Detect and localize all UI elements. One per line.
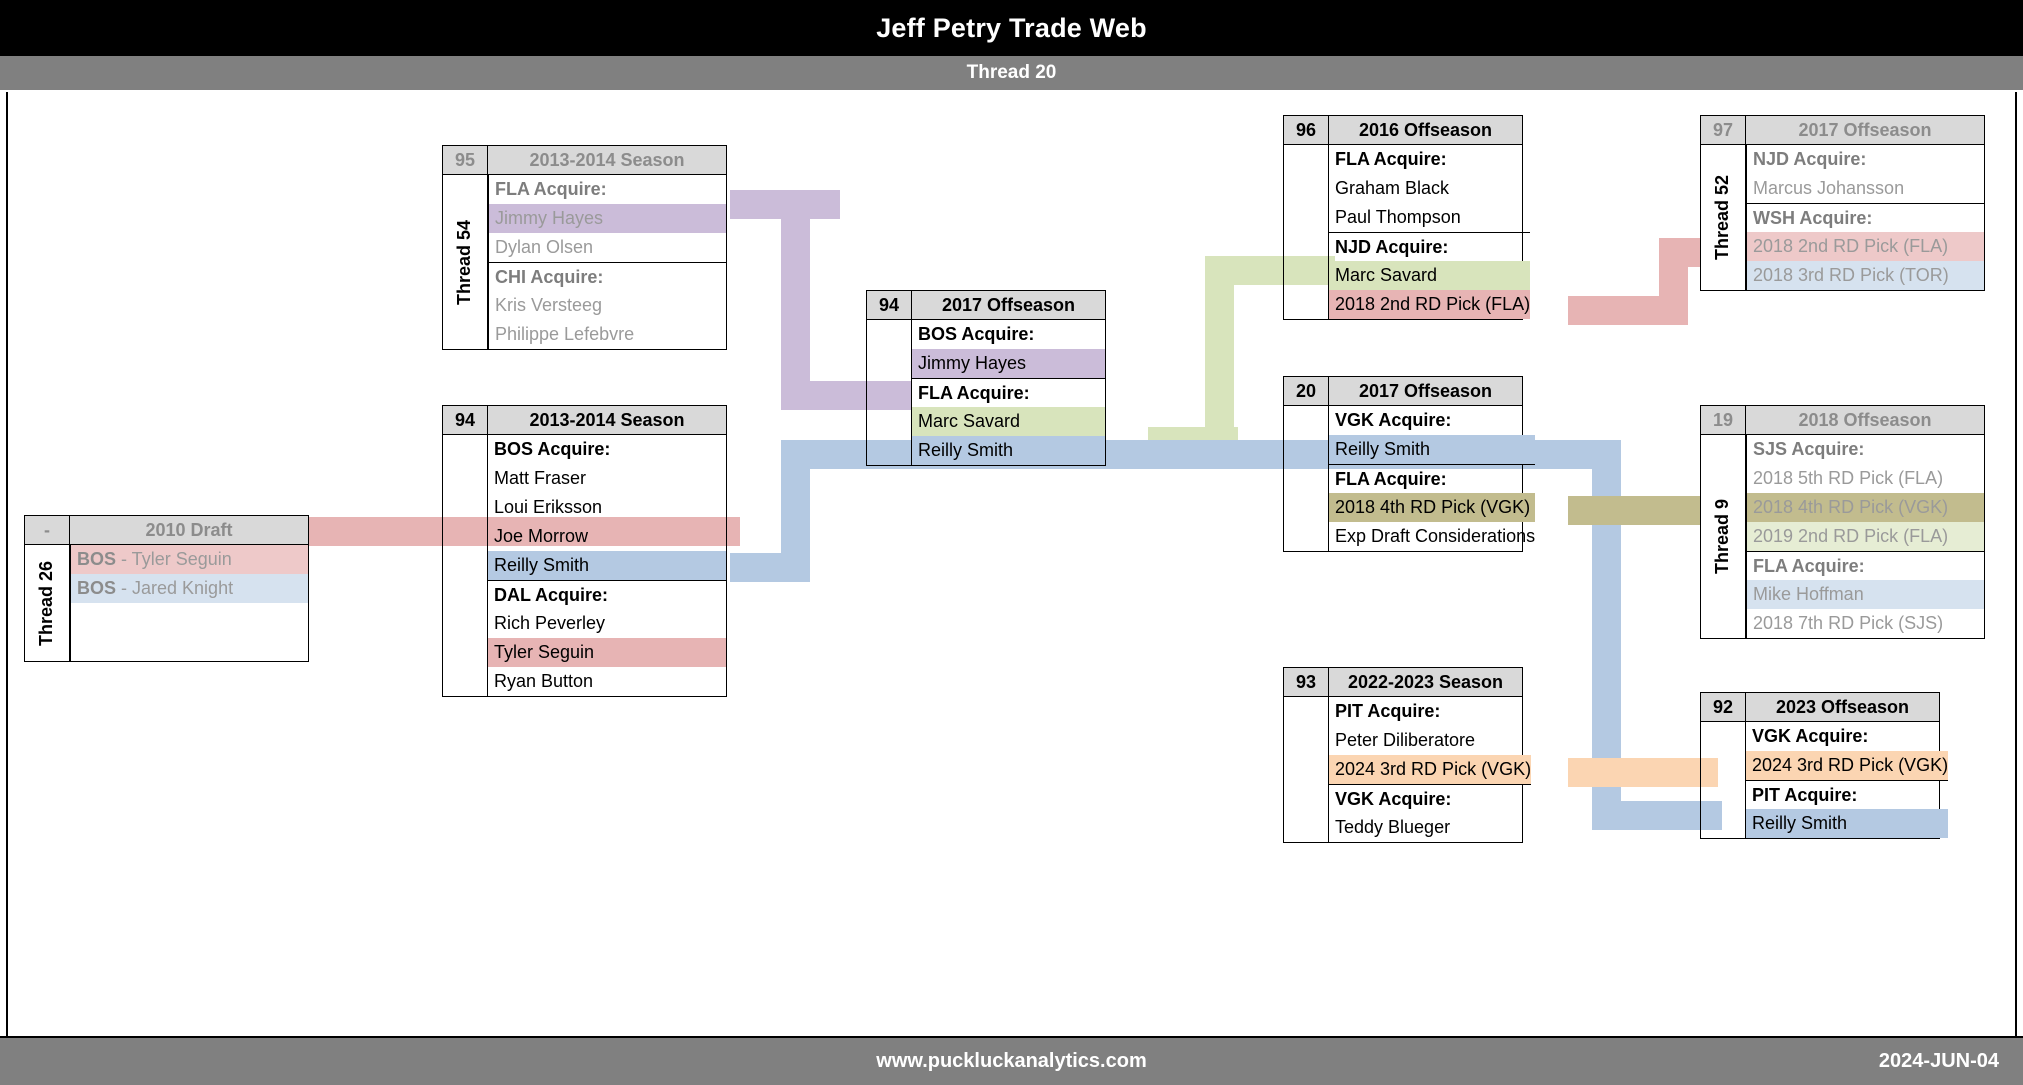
card-title: 2022-2023 Season <box>1329 668 1522 696</box>
card-row: NJD Acquire: <box>1747 145 1984 174</box>
card-header: 972017 Offseason <box>1700 115 1985 145</box>
card-draft-2010[interactable]: -2010 DraftThread 26BOS - Tyler SeguinBO… <box>24 515 309 662</box>
page-title-text: Jeff Petry Trade Web <box>876 13 1147 44</box>
card-id: 94 <box>443 406 488 434</box>
card-body: FLA Acquire:Graham BlackPaul ThompsonNJD… <box>1283 145 1523 320</box>
connector-olive-20-to-19-h <box>1568 496 1718 525</box>
card-row: 2024 3rd RD Pick (VGK) <box>1746 751 1948 780</box>
card-row: Reilly Smith <box>912 436 1105 465</box>
card-row: 2019 2nd RD Pick (FLA) <box>1747 522 1984 551</box>
card-row: DAL Acquire: <box>488 580 726 609</box>
card-header: 942017 Offseason <box>866 290 1106 320</box>
card-id: 93 <box>1284 668 1329 696</box>
card-row: Mike Hoffman <box>1747 580 1984 609</box>
trade-web-page: Jeff Petry Trade Web Thread 20 -2010 Dra… <box>0 0 2023 1085</box>
card-row: Jimmy Hayes <box>912 349 1105 378</box>
card-offseason-2017-vgk[interactable]: 202017 OffseasonVGK Acquire:Reilly Smith… <box>1283 376 1523 552</box>
card-row: Matt Fraser <box>488 464 726 493</box>
card-body: VGK Acquire:2024 3rd RD Pick (VGK)PIT Ac… <box>1700 722 1940 839</box>
card-title: 2016 Offseason <box>1329 116 1522 144</box>
card-row: BOS Acquire: <box>912 320 1105 349</box>
thread-subtitle: Thread 20 <box>0 56 2023 90</box>
card-row: FLA Acquire: <box>1747 551 1984 580</box>
card-row: 2024 3rd RD Pick (VGK) <box>1329 755 1531 784</box>
card-rows: NJD Acquire:Marcus JohanssonWSH Acquire:… <box>1746 145 1984 290</box>
card-spine-empty <box>1284 697 1328 842</box>
card-spine-empty <box>1701 722 1745 838</box>
card-thread-spine: Thread 54 <box>443 175 488 349</box>
card-id: 19 <box>1701 406 1746 434</box>
card-row: 2018 4th RD Pick (VGK) <box>1747 493 1984 522</box>
row-text: - Jared Knight <box>116 578 233 598</box>
card-row: WSH Acquire: <box>1747 203 1984 232</box>
card-row: Loui Eriksson <box>488 493 726 522</box>
card-row: Reilly Smith <box>488 551 726 580</box>
card-body: Thread 54FLA Acquire:Jimmy HayesDylan Ol… <box>442 175 727 350</box>
card-header: 952013-2014 Season <box>442 145 727 175</box>
card-offseason-2018[interactable]: 192018 OffseasonThread 9SJS Acquire:2018… <box>1700 405 1985 639</box>
card-rows: BOS Acquire:Jimmy HayesFLA Acquire:Marc … <box>911 320 1105 465</box>
card-row: VGK Acquire: <box>1329 406 1535 435</box>
thread-label: Thread 54 <box>455 219 476 304</box>
card-row: VGK Acquire: <box>1746 722 1948 751</box>
card-thread-spine: Thread 26 <box>25 545 70 661</box>
card-title: 2023 Offseason <box>1746 693 1939 721</box>
card-id: 92 <box>1701 693 1746 721</box>
card-thread-spine: Thread 52 <box>1701 145 1746 290</box>
card-body: Thread 52NJD Acquire:Marcus JohanssonWSH… <box>1700 145 1985 291</box>
card-title: 2010 Draft <box>70 516 308 544</box>
card-season-2022-23[interactable]: 932022-2023 SeasonPIT Acquire:Peter Dili… <box>1283 667 1523 843</box>
connector-orange-93-to-92-h <box>1568 758 1718 787</box>
card-body: BOS Acquire:Jimmy HayesFLA Acquire:Marc … <box>866 320 1106 466</box>
card-offseason-2017-bos[interactable]: 942017 OffseasonBOS Acquire:Jimmy HayesF… <box>866 290 1106 466</box>
card-row: Reilly Smith <box>1329 435 1535 464</box>
card-row: Marc Savard <box>1329 261 1530 290</box>
card-offseason-2016[interactable]: 962016 OffseasonFLA Acquire:Graham Black… <box>1283 115 1523 320</box>
footer-site-text: www.puckluckanalytics.com <box>876 1050 1146 1073</box>
card-spine-empty <box>1284 145 1328 319</box>
card-rows: PIT Acquire:Peter Diliberatore2024 3rd R… <box>1328 697 1531 842</box>
card-rows: FLA Acquire:Graham BlackPaul ThompsonNJD… <box>1328 145 1530 319</box>
card-header: 962016 Offseason <box>1283 115 1523 145</box>
card-offseason-2023[interactable]: 922023 OffseasonVGK Acquire:2024 3rd RD … <box>1700 692 1940 839</box>
card-row: Reilly Smith <box>1746 809 1948 838</box>
card-title: 2018 Offseason <box>1746 406 1984 434</box>
card-header: 932022-2023 Season <box>1283 667 1523 697</box>
card-id: - <box>25 516 70 544</box>
card-row: PIT Acquire: <box>1329 697 1531 726</box>
card-row: Paul Thompson <box>1329 203 1530 232</box>
card-id: 94 <box>867 291 912 319</box>
card-id: 20 <box>1284 377 1329 405</box>
thread-label: Thread 9 <box>1713 499 1734 574</box>
card-title: 2013-2014 Season <box>488 406 726 434</box>
card-row: Marc Savard <box>912 407 1105 436</box>
card-row-blank <box>71 632 308 661</box>
card-row: FLA Acquire: <box>489 175 726 204</box>
card-row: FLA Acquire: <box>1329 464 1535 493</box>
card-row: FLA Acquire: <box>1329 145 1530 174</box>
card-body: VGK Acquire:Reilly SmithFLA Acquire:2018… <box>1283 406 1523 552</box>
card-row: Joe Morrow <box>488 522 726 551</box>
card-row: 2018 2nd RD Pick (FLA) <box>1747 232 1984 261</box>
card-row: Kris Versteeg <box>489 291 726 320</box>
page-title: Jeff Petry Trade Web <box>0 0 2023 56</box>
card-body: BOS Acquire:Matt FraserLoui ErikssonJoe … <box>442 435 727 697</box>
footer-date-text: 2024-JUN-04 <box>1879 1050 1999 1073</box>
card-body: PIT Acquire:Peter Diliberatore2024 3rd R… <box>1283 697 1523 843</box>
card-row: PIT Acquire: <box>1746 780 1948 809</box>
card-row: BOS - Jared Knight <box>71 574 308 603</box>
card-row: NJD Acquire: <box>1329 232 1530 261</box>
card-row: Tyler Seguin <box>488 638 726 667</box>
row-team-code: BOS <box>77 549 116 569</box>
card-header: 942013-2014 Season <box>442 405 727 435</box>
card-header: -2010 Draft <box>24 515 309 545</box>
thread-subtitle-text: Thread 20 <box>967 62 1057 84</box>
card-row: 2018 5th RD Pick (FLA) <box>1747 464 1984 493</box>
card-rows: FLA Acquire:Jimmy HayesDylan OlsenCHI Ac… <box>488 175 726 349</box>
thread-label: Thread 52 <box>1713 175 1734 260</box>
card-body: Thread 9SJS Acquire:2018 5th RD Pick (FL… <box>1700 435 1985 639</box>
card-row: CHI Acquire: <box>489 262 726 291</box>
card-row: VGK Acquire: <box>1329 784 1531 813</box>
card-row: Ryan Button <box>488 667 726 696</box>
card-rows: VGK Acquire:Reilly SmithFLA Acquire:2018… <box>1328 406 1535 551</box>
connector-green-96-to-94-v <box>1205 256 1234 456</box>
card-header: 922023 Offseason <box>1700 692 1940 722</box>
card-title: 2013-2014 Season <box>488 146 726 174</box>
card-rows: SJS Acquire:2018 5th RD Pick (FLA)2018 4… <box>1746 435 1984 638</box>
card-row: Teddy Blueger <box>1329 813 1531 842</box>
card-title: 2017 Offseason <box>912 291 1105 319</box>
card-title: 2017 Offseason <box>1746 116 1984 144</box>
card-title: 2017 Offseason <box>1329 377 1522 405</box>
card-row: 2018 7th RD Pick (SJS) <box>1747 609 1984 638</box>
connector-purple-95-to-94-v <box>781 190 810 410</box>
card-id: 97 <box>1701 116 1746 144</box>
card-thread-spine: Thread 9 <box>1701 435 1746 638</box>
card-row: Exp Draft Considerations <box>1329 522 1535 551</box>
card-row: Peter Diliberatore <box>1329 726 1531 755</box>
card-row: Dylan Olsen <box>489 233 726 262</box>
card-header: 192018 Offseason <box>1700 405 1985 435</box>
footer-date: 2024-JUN-04 <box>1879 1038 1999 1085</box>
card-offseason-2017-njd[interactable]: 972017 OffseasonThread 52NJD Acquire:Mar… <box>1700 115 1985 291</box>
card-row: 2018 4th RD Pick (VGK) <box>1329 493 1535 522</box>
card-row: Philippe Lefebvre <box>489 320 726 349</box>
card-header: 202017 Offseason <box>1283 376 1523 406</box>
card-spine-empty <box>443 435 487 696</box>
footer-bar: www.puckluckanalytics.com 2024-JUN-04 <box>0 1036 2023 1085</box>
card-season-2013-14-bos[interactable]: 942013-2014 SeasonBOS Acquire:Matt Frase… <box>442 405 727 697</box>
card-row: BOS - Tyler Seguin <box>71 545 308 574</box>
card-season-2013-14-fla[interactable]: 952013-2014 SeasonThread 54FLA Acquire:J… <box>442 145 727 350</box>
card-row: Jimmy Hayes <box>489 204 726 233</box>
thread-label: Thread 26 <box>37 560 58 645</box>
card-rows: BOS - Tyler SeguinBOS - Jared Knight <box>70 545 308 661</box>
card-spine-empty <box>867 320 911 465</box>
card-row: SJS Acquire: <box>1747 435 1984 464</box>
card-row-blank <box>71 603 308 632</box>
card-body: Thread 26BOS - Tyler SeguinBOS - Jared K… <box>24 545 309 662</box>
footer-site: www.puckluckanalytics.com <box>0 1038 2023 1085</box>
card-id: 95 <box>443 146 488 174</box>
row-text: - Tyler Seguin <box>116 549 232 569</box>
card-row: Rich Peverley <box>488 609 726 638</box>
diagram-canvas: -2010 DraftThread 26BOS - Tyler SeguinBO… <box>6 92 2017 1038</box>
card-row: 2018 2nd RD Pick (FLA) <box>1329 290 1530 319</box>
row-team-code: BOS <box>77 578 116 598</box>
card-row: FLA Acquire: <box>912 378 1105 407</box>
card-id: 96 <box>1284 116 1329 144</box>
card-row: Graham Black <box>1329 174 1530 203</box>
card-row: 2018 3rd RD Pick (TOR) <box>1747 261 1984 290</box>
card-row: BOS Acquire: <box>488 435 726 464</box>
card-rows: BOS Acquire:Matt FraserLoui ErikssonJoe … <box>487 435 726 696</box>
card-rows: VGK Acquire:2024 3rd RD Pick (VGK)PIT Ac… <box>1745 722 1948 838</box>
card-row: Marcus Johansson <box>1747 174 1984 203</box>
card-spine-empty <box>1284 406 1328 551</box>
